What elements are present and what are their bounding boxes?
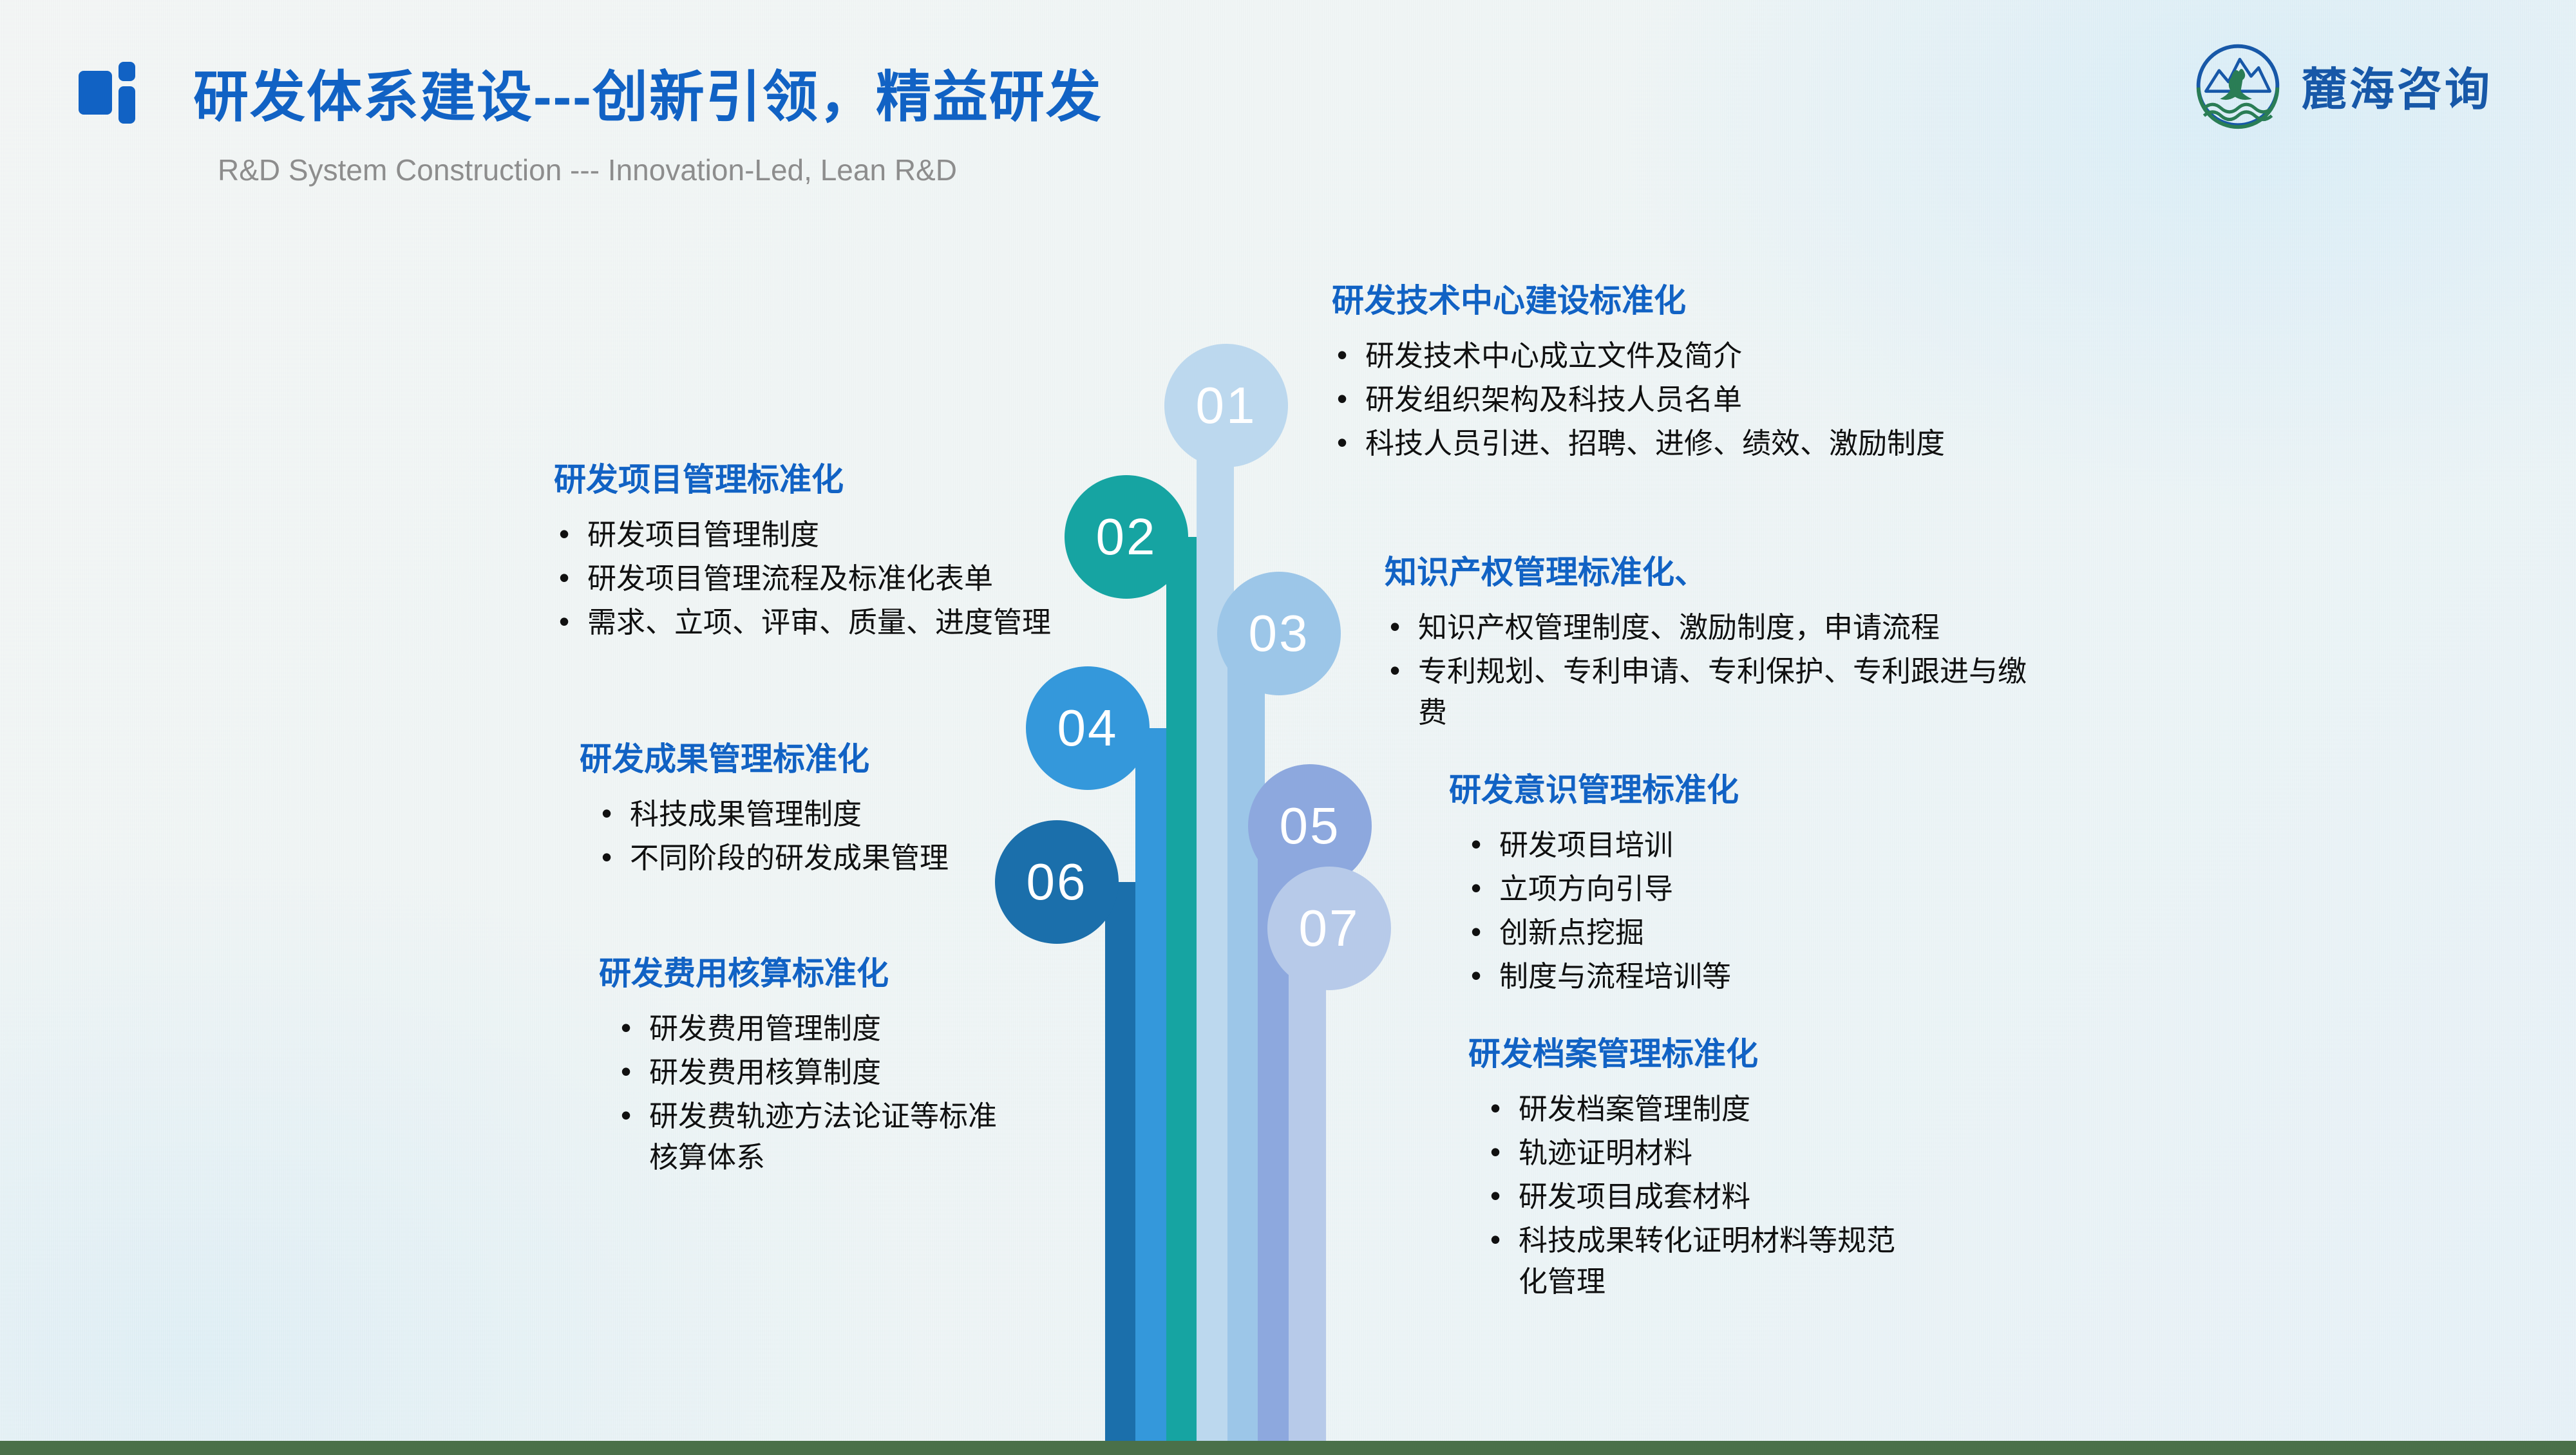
section-04-title: 研发成果管理标准化 xyxy=(580,742,1146,777)
list-item: 轨迹证明材料 xyxy=(1485,1132,1996,1174)
ribbon-07 xyxy=(1289,928,1326,1441)
list-item: 需求、立项、评审、质量、进度管理 xyxy=(554,602,1198,643)
node-01[interactable]: 01 xyxy=(1164,344,1288,467)
section-04: 研发成果管理标准化 科技成果管理制度 不同阶段的研发成果管理 xyxy=(580,742,1146,881)
list-item: 研发费轨迹方法论证等标准核算体系 xyxy=(616,1096,1023,1178)
section-06-list: 研发费用管理制度 研发费用核算制度 研发费轨迹方法论证等标准核算体系 xyxy=(599,1008,1166,1178)
timeline-graphic: 01 02 03 04 05 06 07 xyxy=(0,0,2576,1441)
list-item: 不同阶段的研发成果管理 xyxy=(596,838,1146,879)
section-04-list: 科技成果管理制度 不同阶段的研发成果管理 xyxy=(580,794,1146,879)
section-03-title: 知识产权管理标准化、 xyxy=(1385,555,2080,590)
section-03-list: 知识产权管理制度、激励制度，申请流程 专利规划、专利申请、专利保护、专利跟进与缴… xyxy=(1385,607,2080,733)
section-07-title: 研发档案管理标准化 xyxy=(1468,1037,1996,1072)
list-item: 立项方向引导 xyxy=(1466,868,1964,910)
node-07[interactable]: 07 xyxy=(1267,867,1391,990)
list-item: 研发组织架构及科技人员名单 xyxy=(1332,379,2169,420)
list-item: 研发项目成套材料 xyxy=(1485,1176,1996,1217)
section-01: 研发技术中心建设标准化 研发技术中心成立文件及简介 研发组织架构及科技人员名单 … xyxy=(1332,283,2169,467)
list-item: 研发费用核算制度 xyxy=(616,1052,1166,1093)
list-item: 科技成果管理制度 xyxy=(596,794,1146,835)
section-01-title: 研发技术中心建设标准化 xyxy=(1332,283,2169,319)
section-05-list: 研发项目培训 立项方向引导 创新点挖掘 制度与流程培训等 xyxy=(1449,825,1964,997)
list-item: 研发项目培训 xyxy=(1466,825,1964,866)
list-item: 制度与流程培训等 xyxy=(1466,956,1964,997)
section-05-title: 研发意识管理标准化 xyxy=(1449,773,1964,808)
section-05: 研发意识管理标准化 研发项目培训 立项方向引导 创新点挖掘 制度与流程培训等 xyxy=(1449,773,1964,1000)
list-item: 科技成果转化证明材料等规范化管理 xyxy=(1485,1220,1905,1302)
section-02-list: 研发项目管理制度 研发项目管理流程及标准化表单 需求、立项、评审、质量、进度管理 xyxy=(554,514,1198,643)
section-02-title: 研发项目管理标准化 xyxy=(554,462,1198,498)
section-06-title: 研发费用核算标准化 xyxy=(599,956,1166,991)
section-06: 研发费用核算标准化 研发费用管理制度 研发费用核算制度 研发费轨迹方法论证等标准… xyxy=(599,956,1166,1181)
section-03: 知识产权管理标准化、 知识产权管理制度、激励制度，申请流程 专利规划、专利申请、… xyxy=(1385,555,2080,736)
section-07: 研发档案管理标准化 研发档案管理制度 轨迹证明材料 研发项目成套材料 科技成果转… xyxy=(1468,1037,1996,1304)
list-item: 科技人员引进、招聘、进修、绩效、激励制度 xyxy=(1332,423,2169,464)
section-01-list: 研发技术中心成立文件及简介 研发组织架构及科技人员名单 科技人员引进、招聘、进修… xyxy=(1332,335,2169,464)
list-item: 研发技术中心成立文件及简介 xyxy=(1332,335,2169,377)
list-item: 研发费用管理制度 xyxy=(616,1008,1166,1049)
section-02: 研发项目管理标准化 研发项目管理制度 研发项目管理流程及标准化表单 需求、立项、… xyxy=(554,462,1198,646)
list-item: 研发项目管理制度 xyxy=(554,514,1198,556)
node-03[interactable]: 03 xyxy=(1217,572,1341,695)
section-07-list: 研发档案管理制度 轨迹证明材料 研发项目成套材料 科技成果转化证明材料等规范化管… xyxy=(1468,1089,1996,1302)
list-item: 研发项目管理流程及标准化表单 xyxy=(554,558,1198,599)
list-item: 研发档案管理制度 xyxy=(1485,1089,1996,1130)
bottom-accent-bar xyxy=(0,1441,2576,1455)
list-item: 知识产权管理制度、激励制度，申请流程 xyxy=(1385,607,2080,648)
list-item: 创新点挖掘 xyxy=(1466,912,1964,953)
list-item: 专利规划、专利申请、专利保护、专利跟进与缴费 xyxy=(1385,651,2036,733)
